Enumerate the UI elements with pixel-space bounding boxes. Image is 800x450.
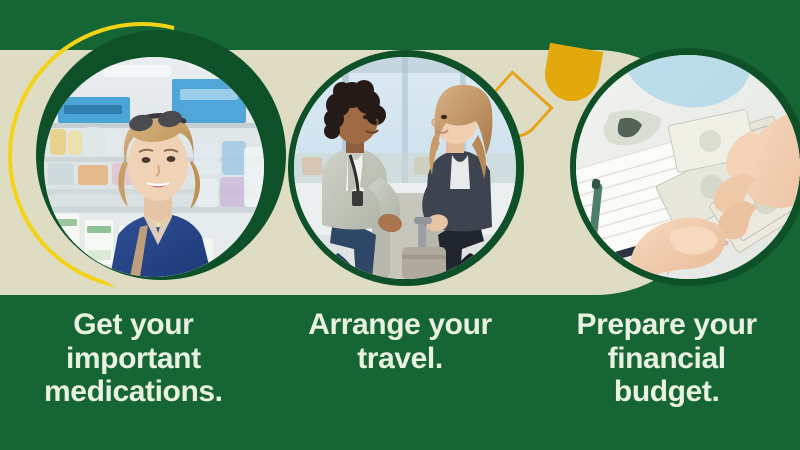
caption-medications: Get yourimportantmedications. <box>0 300 267 450</box>
caption-medications-text: Get yourimportantmedications. <box>18 308 248 409</box>
caption-budget-text: Prepare yourfinancialbudget. <box>559 308 774 409</box>
caption-budget: Prepare yourfinancialbudget. <box>533 300 800 450</box>
captions-row: Get yourimportantmedications. Arrange yo… <box>0 300 800 450</box>
pharmacy-customer-photo <box>44 57 264 277</box>
banner-stage: 100 Get yourimportantmedicati <box>0 0 800 450</box>
caption-travel: Arrange yourtravel. <box>267 300 534 450</box>
caption-travel-text: Arrange yourtravel. <box>285 308 515 375</box>
airport-travelers-photo <box>294 57 516 279</box>
counting-money-photo: 100 <box>576 55 800 279</box>
